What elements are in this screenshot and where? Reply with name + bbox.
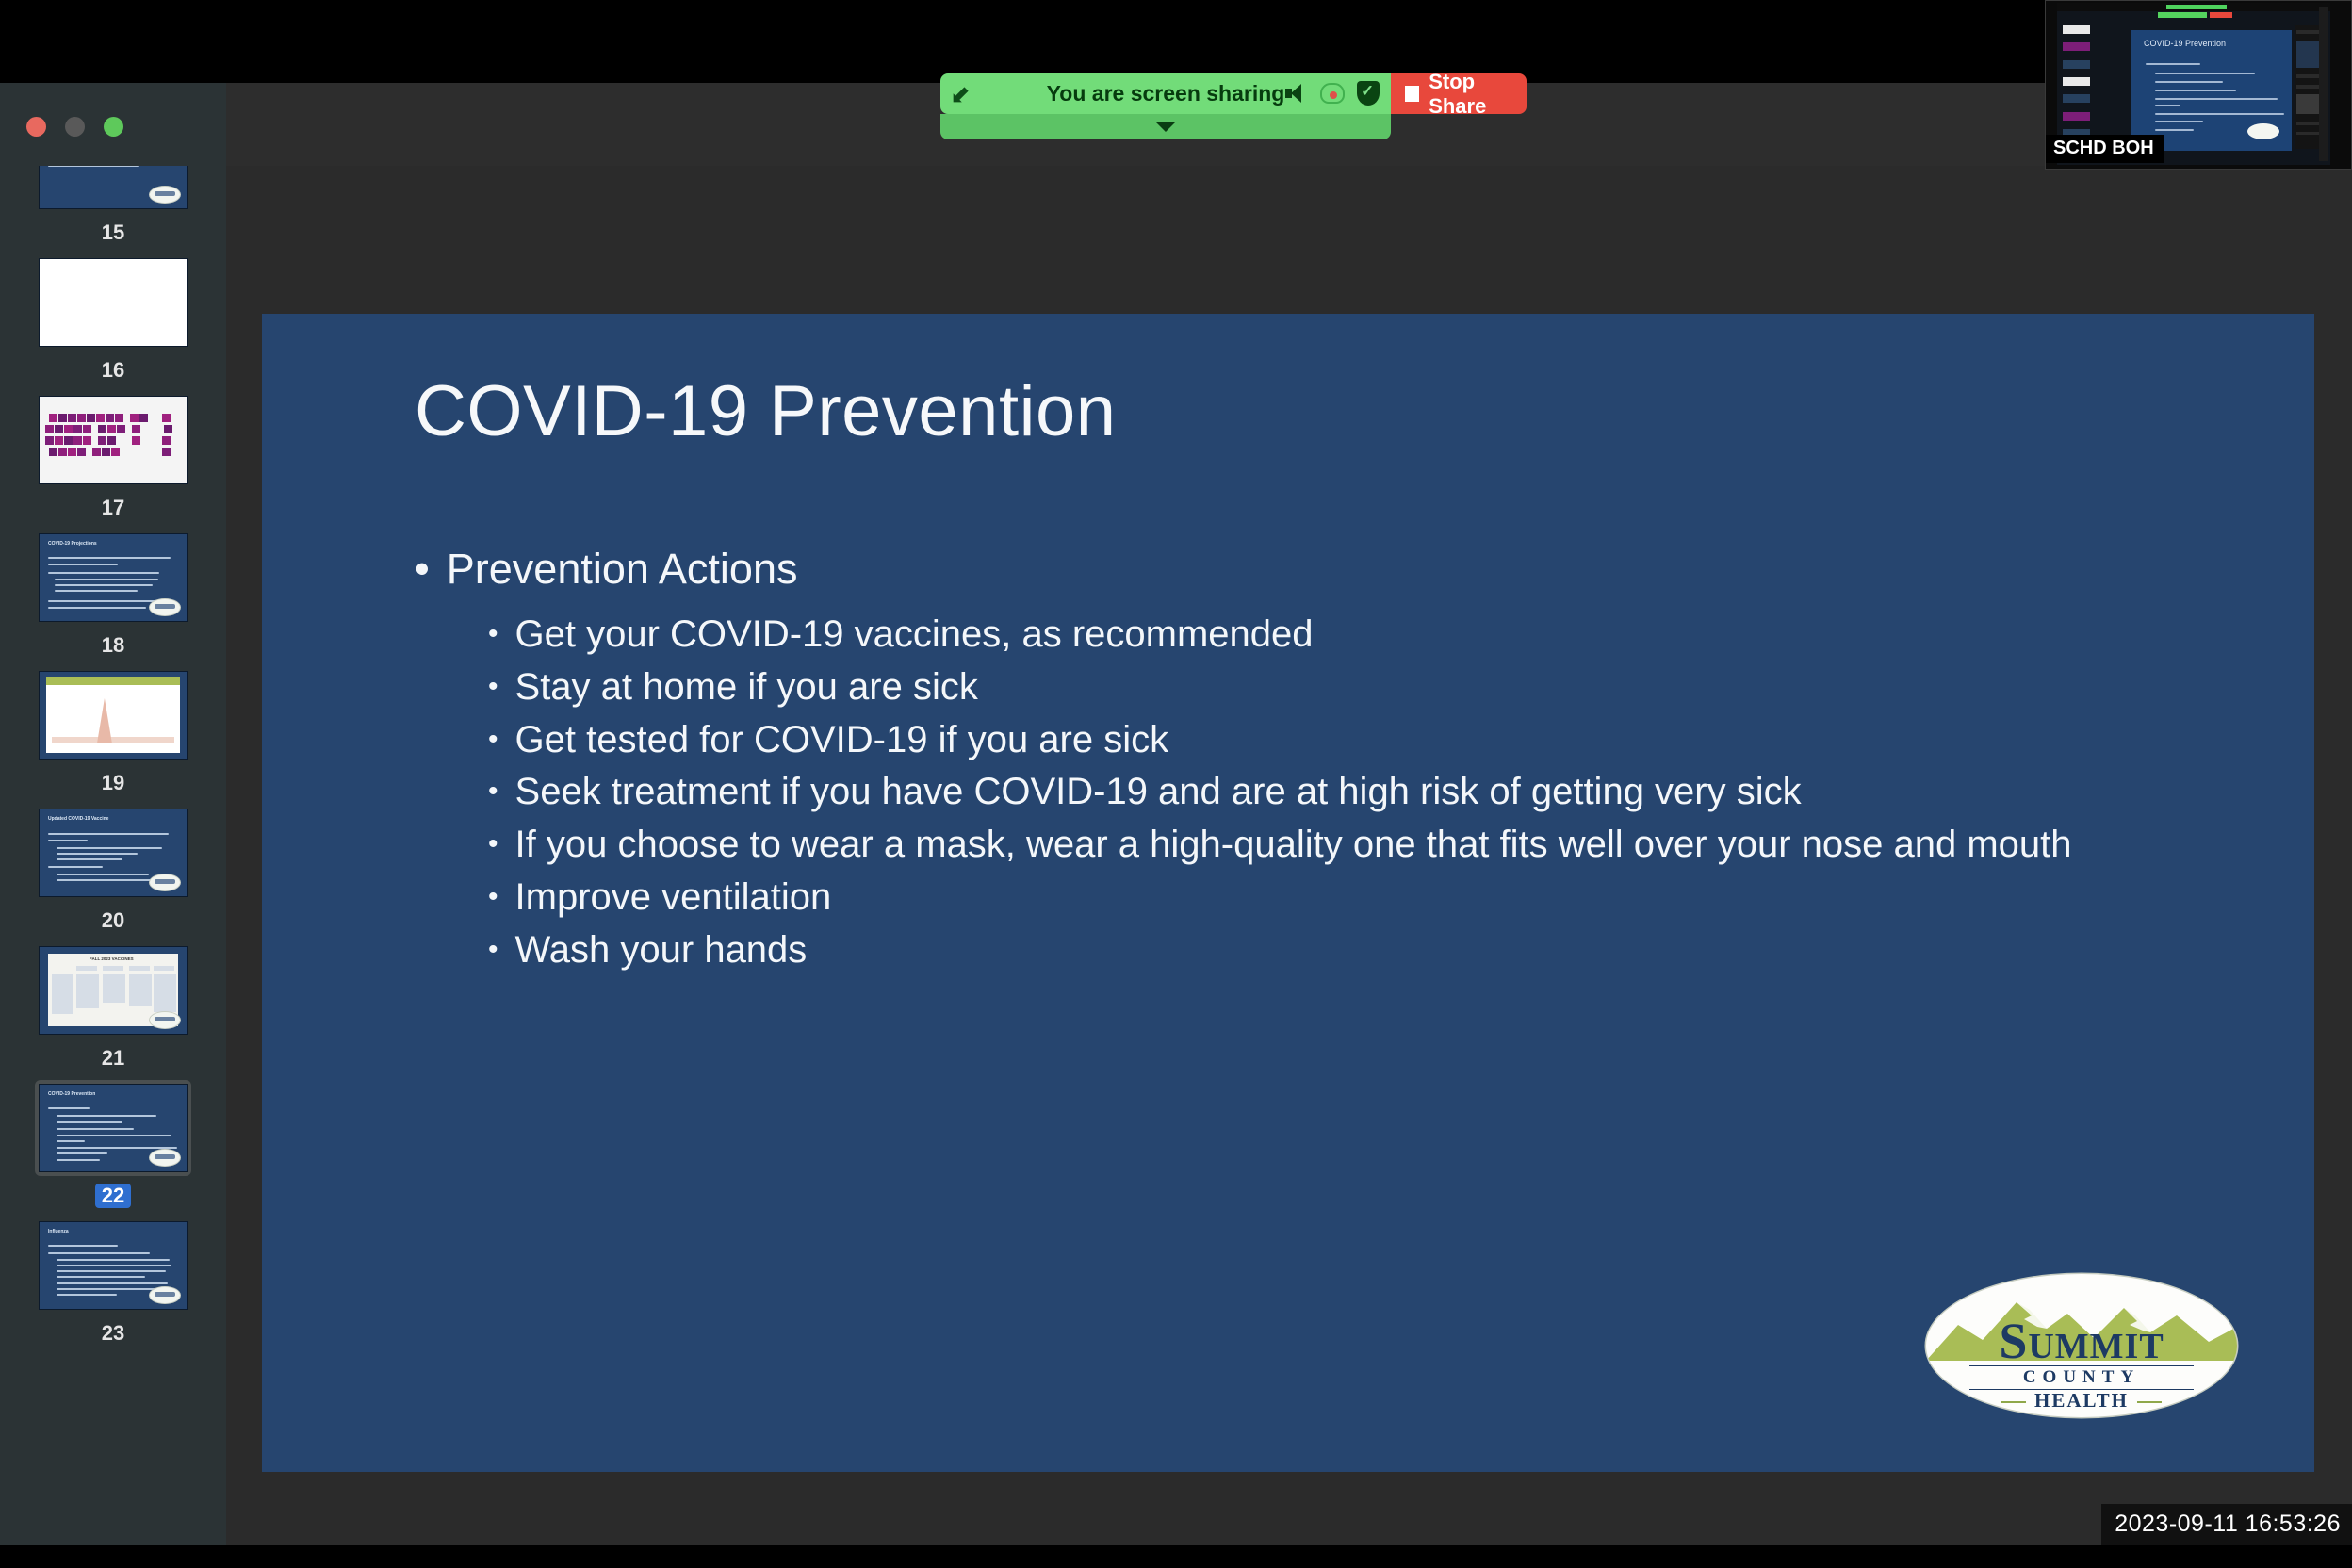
stop-share-button[interactable]: Stop Share (1391, 73, 1527, 114)
list-item[interactable]: FALL 2023 VACCINES (0, 942, 226, 1070)
list-item: • Get tested for COVID-19 if you are sic… (488, 719, 2278, 761)
pip-summit-logo-icon (2247, 123, 2279, 139)
chevron-down-icon[interactable] (1155, 122, 1176, 132)
bullet-text: Stay at home if you are sick (515, 666, 978, 709)
summit-logo-icon (150, 1287, 180, 1303)
summit-logo-icon (150, 1012, 180, 1028)
close-button[interactable] (26, 117, 46, 137)
pip-self-view[interactable]: COVID-19 Prevention (2045, 0, 2352, 170)
bullet-text: If you choose to wear a mask, wear a hig… (515, 824, 2072, 866)
bullet-text: Wash your hands (515, 929, 808, 972)
speaker-icon[interactable] (1283, 81, 1308, 106)
thumbnail-number-selected: 22 (95, 1184, 131, 1208)
thumbnail-title: Updated COVID-19 Vaccine (48, 816, 108, 822)
thumbnail-18[interactable]: COVID-19 Projections (40, 534, 187, 621)
zoom-button[interactable] (104, 117, 123, 137)
list-item: • Stay at home if you are sick (488, 666, 2278, 709)
list-item[interactable]: 17 (0, 392, 226, 520)
thumbnail-list: 15 16 (0, 166, 226, 1355)
bullet-marker: • (488, 824, 498, 865)
slide-title: COVID-19 Prevention (415, 370, 1117, 452)
pip-slide: COVID-19 Prevention (2131, 30, 2292, 150)
bullet-marker: • (488, 929, 498, 971)
pip-participant-name: SCHD BOH (2046, 135, 2164, 163)
thumbnail-22[interactable]: COVID-19 Prevention (40, 1085, 187, 1171)
thumbnail-title: COVID-19 Prevention (48, 1091, 95, 1097)
thumbnail-title: FALL 2023 VACCINES (90, 956, 134, 961)
bullet-marker: • (488, 876, 498, 918)
recording-timestamp: 2023-09-11 16:53:26 (2101, 1504, 2352, 1545)
bullet-marker: • (488, 666, 498, 708)
thumbnail-16[interactable] (40, 259, 187, 346)
thumbnail-number: 19 (95, 771, 131, 795)
bullet-text: Get your COVID-19 vaccines, as recommend… (515, 613, 1314, 656)
logo-summit-text: Summit (1926, 1312, 2237, 1370)
thumbnail-number: 21 (95, 1046, 131, 1070)
bullet-text: Improve ventilation (515, 876, 832, 919)
logo-health-label: HEALTH (2034, 1389, 2129, 1412)
pip-slide-title: COVID-19 Prevention (2144, 39, 2226, 48)
minimize-button[interactable] (65, 117, 85, 137)
list-item[interactable]: COVID-19 Projections 18 (0, 530, 226, 658)
list-item[interactable]: Influenza 23 (0, 1217, 226, 1346)
summit-logo-icon (150, 187, 180, 203)
bullet-marker: • (488, 771, 498, 812)
pip-thumbnail-rail (2063, 25, 2090, 149)
list-item[interactable]: 19 (0, 667, 226, 795)
thumbnail-number: 16 (95, 358, 131, 383)
thumbnail-21[interactable]: FALL 2023 VACCINES (40, 947, 187, 1034)
thumbnail-20[interactable]: Updated COVID-19 Vaccine (40, 809, 187, 896)
list-item[interactable]: Updated COVID-19 Vaccine 20 (0, 805, 226, 933)
slide-canvas: COVID-19 Prevention • Prevention Actions… (262, 314, 2314, 1472)
bullet-marker: • (415, 545, 430, 594)
bottom-black-strip (0, 1545, 2352, 1568)
thumbnail-title: COVID-19 Projections (48, 541, 97, 547)
list-item: • Get your COVID-19 vaccines, as recomme… (488, 613, 2278, 656)
thumbnail-23[interactable]: Influenza (40, 1222, 187, 1309)
list-item[interactable]: 15 (0, 166, 226, 245)
bullet-marker: • (488, 613, 498, 655)
summit-logo-icon (150, 1150, 180, 1166)
screen-share-status[interactable]: ⬋ You are screen sharing (940, 73, 1391, 114)
list-item: • If you choose to wear a mask, wear a h… (488, 824, 2278, 866)
list-item: • Seek treatment if you have COVID-19 an… (488, 771, 2278, 813)
thumbnail-sidebar[interactable]: 15 16 (0, 166, 226, 1568)
epi-curve-preview (46, 677, 180, 753)
pip-scrollbar (2319, 7, 2328, 161)
list-item[interactable]: COVID-19 Prevention 22 (0, 1080, 226, 1208)
summit-logo-icon (150, 874, 180, 890)
pip-share-bar (2158, 12, 2207, 18)
pdf-page-view[interactable]: COVID-19 Prevention • Prevention Actions… (226, 166, 2352, 1568)
top-black-strip (0, 0, 2352, 83)
heatmap-preview (40, 397, 187, 483)
thumbnail-15[interactable] (40, 166, 187, 208)
pip-share-bar-outer (2166, 5, 2227, 9)
thumbnail-title: Influenza (48, 1229, 69, 1234)
bullet-marker: • (488, 719, 498, 760)
logo-county-text: COUNTY (1969, 1365, 2194, 1390)
bullet-text: Get tested for COVID-19 if you are sick (515, 719, 1169, 761)
thumbnail-number: 20 (95, 908, 131, 933)
thumbnail-17[interactable] (40, 397, 187, 483)
list-item: • Wash your hands (488, 929, 2278, 972)
pip-stop-share (2210, 12, 2231, 18)
thumbnail-number: 23 (95, 1321, 131, 1346)
summit-logo-icon (150, 599, 180, 615)
screen-share-icons[interactable] (1283, 81, 1380, 106)
stop-share-label: Stop Share (1429, 70, 1527, 119)
slide-bullet-list: • Get your COVID-19 vaccines, as recomme… (488, 613, 2278, 982)
cloud-recording-icon[interactable] (1320, 83, 1345, 104)
thumbnail-number: 17 (95, 496, 131, 520)
stop-square-icon (1405, 86, 1419, 102)
thumbnail-number: 18 (95, 633, 131, 658)
thumbnail-number: 15 (95, 220, 131, 245)
slide-bullet-level1: • Prevention Actions (415, 545, 798, 594)
preview-app-window: BOH Packet 9-11-23[79].pdf Page 22 of 44… (0, 83, 2352, 1545)
logo-health-text: HEALTH (1926, 1389, 2237, 1413)
list-item: • Improve ventilation (488, 876, 2278, 919)
logo-dash-left (2001, 1401, 2026, 1404)
summit-county-health-logo: Summit COUNTY HEALTH (1926, 1274, 2237, 1417)
list-item[interactable]: 16 (0, 254, 226, 383)
screen-root: BOH Packet 9-11-23[79].pdf Page 22 of 44… (0, 0, 2352, 1568)
logo-dash-right (2137, 1401, 2162, 1404)
thumbnail-19[interactable] (40, 672, 187, 759)
bullet-text: Seek treatment if you have COVID-19 and … (515, 771, 1802, 813)
window-traffic-lights[interactable] (26, 117, 123, 137)
bullet-text: Prevention Actions (447, 545, 798, 594)
shield-check-icon[interactable] (1357, 81, 1380, 106)
screen-share-bar[interactable]: ⬋ You are screen sharing (940, 73, 1391, 139)
screen-share-expand-button[interactable] (940, 114, 1391, 139)
